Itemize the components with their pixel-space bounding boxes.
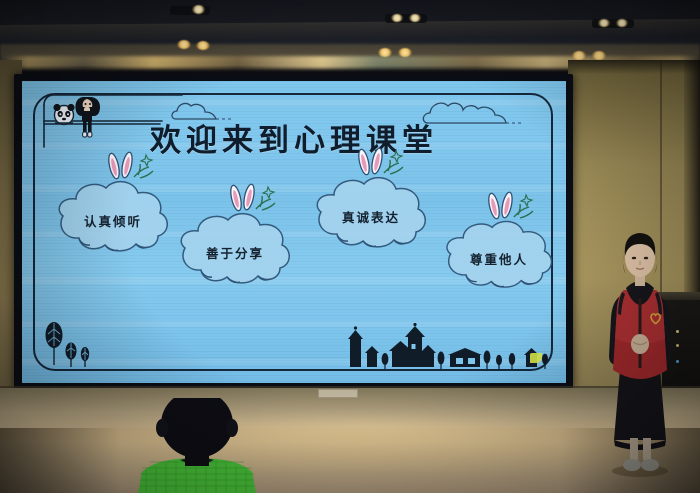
- bunny-ears-icon-3: [354, 147, 408, 189]
- soffit-light-1b: [196, 41, 210, 50]
- ceiling-spotlight-2a: [391, 14, 403, 22]
- soffit-light-1a: [177, 40, 191, 49]
- presenter: [600, 228, 680, 478]
- ceiling-spotlight-3a: [598, 19, 610, 27]
- presentation-scene: 欢迎来到心理课堂 认真倾听: [0, 0, 700, 493]
- doodle-village: [340, 323, 552, 377]
- wall-right-shadow: [568, 60, 700, 74]
- doodle-trees: [32, 317, 122, 379]
- led-screen[interactable]: 欢迎来到心理课堂 认真倾听: [22, 81, 566, 383]
- ceiling-spotlight-3b: [616, 19, 628, 27]
- ceiling-spotlight-1: [192, 5, 205, 14]
- wall-plate: [318, 389, 358, 398]
- floor-shadow-left: [0, 428, 120, 493]
- student-foreground: [132, 398, 262, 493]
- bunny-ears-icon-1: [104, 151, 158, 193]
- ceiling-spotlight-2b: [409, 14, 421, 22]
- bunny-ears-icon-2: [226, 183, 280, 225]
- bunny-ears-icon-4: [484, 191, 538, 233]
